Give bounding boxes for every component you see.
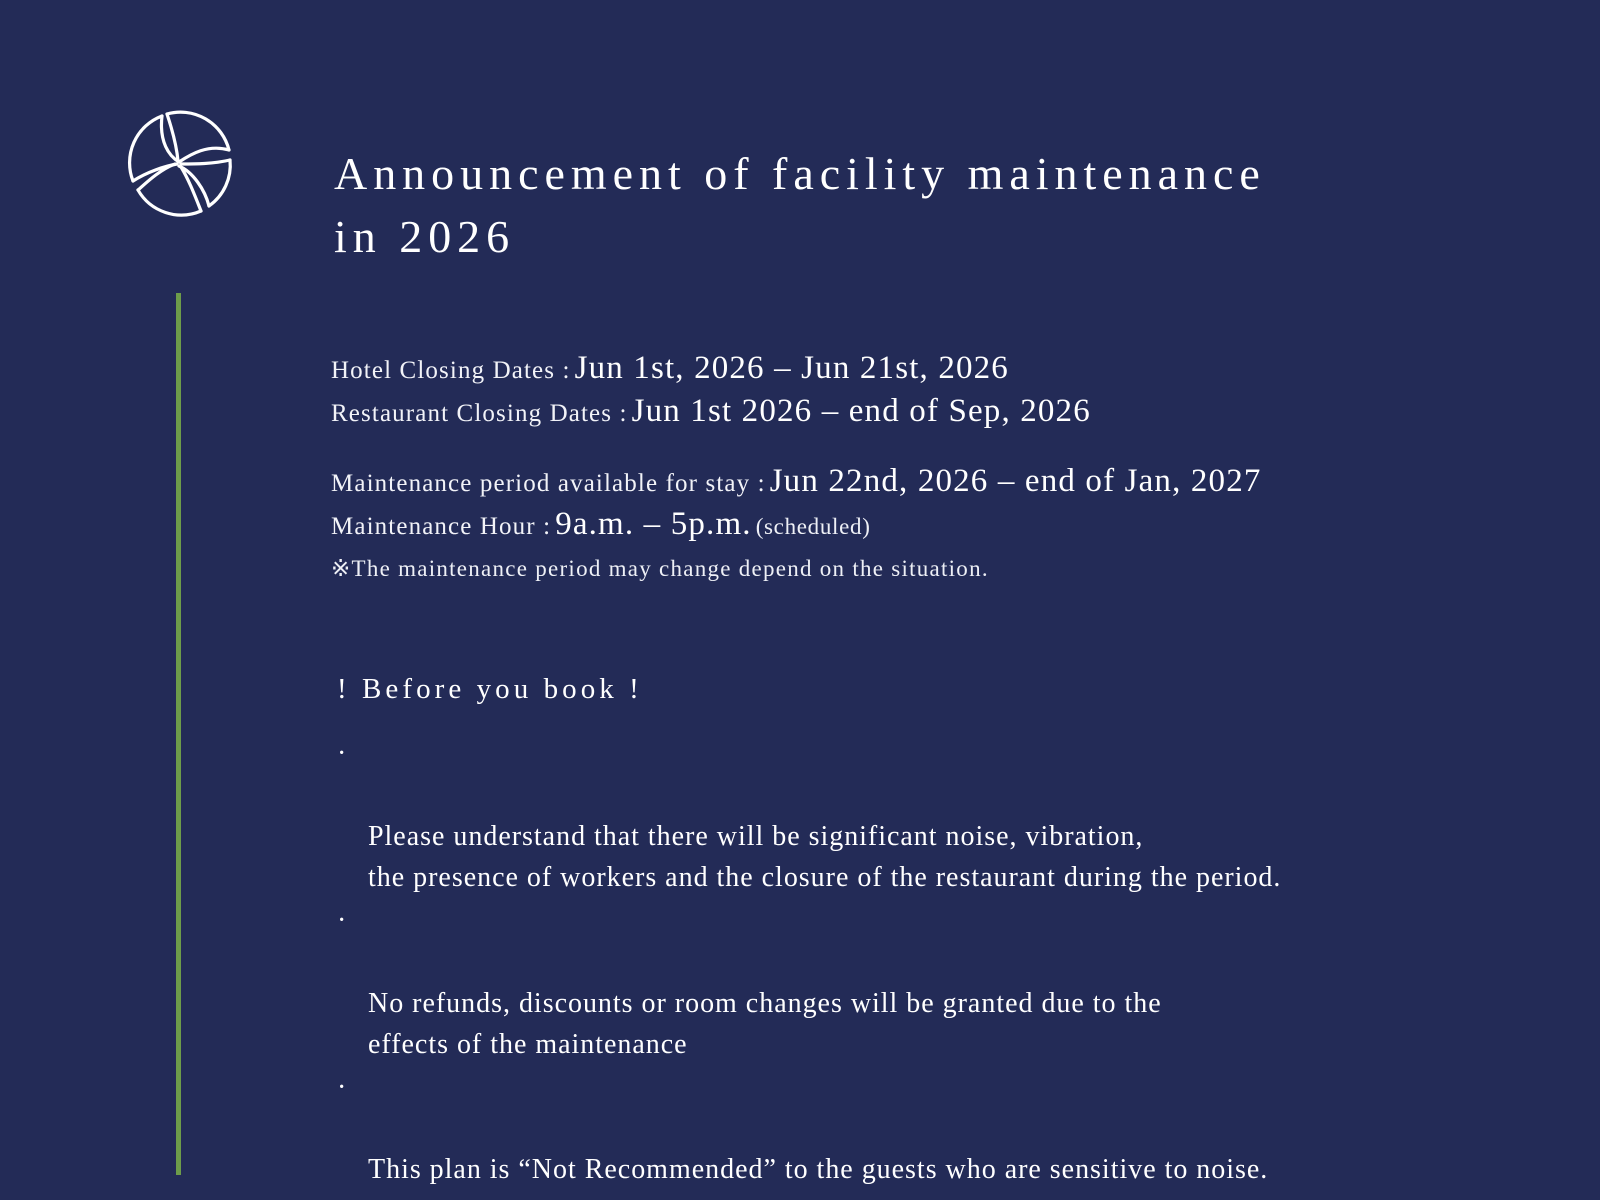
list-item-text: Please understand that there will be sig… xyxy=(368,821,1281,893)
info-value: 9a.m. – 5p.m. xyxy=(555,506,752,542)
info-label: Maintenance Hour : xyxy=(331,513,551,540)
maintenance-note: ※The maintenance period may change depen… xyxy=(331,556,989,582)
info-line-hotel-closing-dates: Hotel Closing Dates : Jun 1st, 2026 – Ju… xyxy=(331,350,1511,387)
info-value: Jun 1st 2026 – end of Sep, 2026 xyxy=(632,393,1091,429)
info-spacer xyxy=(331,436,1511,463)
info-label: Hotel Closing Dates : xyxy=(331,357,571,384)
list-item: · No refunds, discounts or room changes … xyxy=(333,900,1533,1066)
before-you-book-heading: ! Before you book ! xyxy=(337,673,643,706)
list-item: · During the maintenance, no meal will b… xyxy=(333,1192,1533,1200)
circular-flower-emblem-logo-icon xyxy=(113,98,245,230)
bullet-marker-icon: · xyxy=(337,733,347,774)
info-label: Restaurant Closing Dates : xyxy=(331,400,628,427)
list-item-text: This plan is “Not Recommended” to the gu… xyxy=(368,1154,1268,1185)
info-line-maintenance-period: Maintenance period available for stay : … xyxy=(331,463,1511,500)
bullet-marker-icon: · xyxy=(337,1192,347,1200)
bullet-marker-icon: · xyxy=(337,1067,347,1108)
bullet-marker-icon: · xyxy=(337,900,347,941)
info-value: Jun 1st, 2026 – Jun 21st, 2026 xyxy=(575,350,1009,386)
info-line-maintenance-hour: Maintenance Hour : 9a.m. – 5p.m. (schedu… xyxy=(331,506,1511,543)
announcement-poster: Announcement of facility maintenance in … xyxy=(0,0,1600,1200)
page-title: Announcement of facility maintenance in … xyxy=(334,142,1464,269)
list-item: · This plan is “Not Recommended” to the … xyxy=(333,1067,1533,1191)
info-label: Maintenance period available for stay : xyxy=(331,470,766,497)
list-item-text: No refunds, discounts or room changes wi… xyxy=(368,988,1162,1060)
info-value: Jun 22nd, 2026 – end of Jan, 2027 xyxy=(770,463,1262,499)
green-accent-rule xyxy=(176,293,181,1175)
list-item: · Please understand that there will be s… xyxy=(333,733,1533,899)
before-you-book-list: · Please understand that there will be s… xyxy=(333,733,1533,1200)
closing-dates-info: Hotel Closing Dates : Jun 1st, 2026 – Ju… xyxy=(331,350,1511,549)
info-suffix: (scheduled) xyxy=(756,514,871,539)
info-line-restaurant-closing-dates: Restaurant Closing Dates : Jun 1st 2026 … xyxy=(331,393,1511,430)
